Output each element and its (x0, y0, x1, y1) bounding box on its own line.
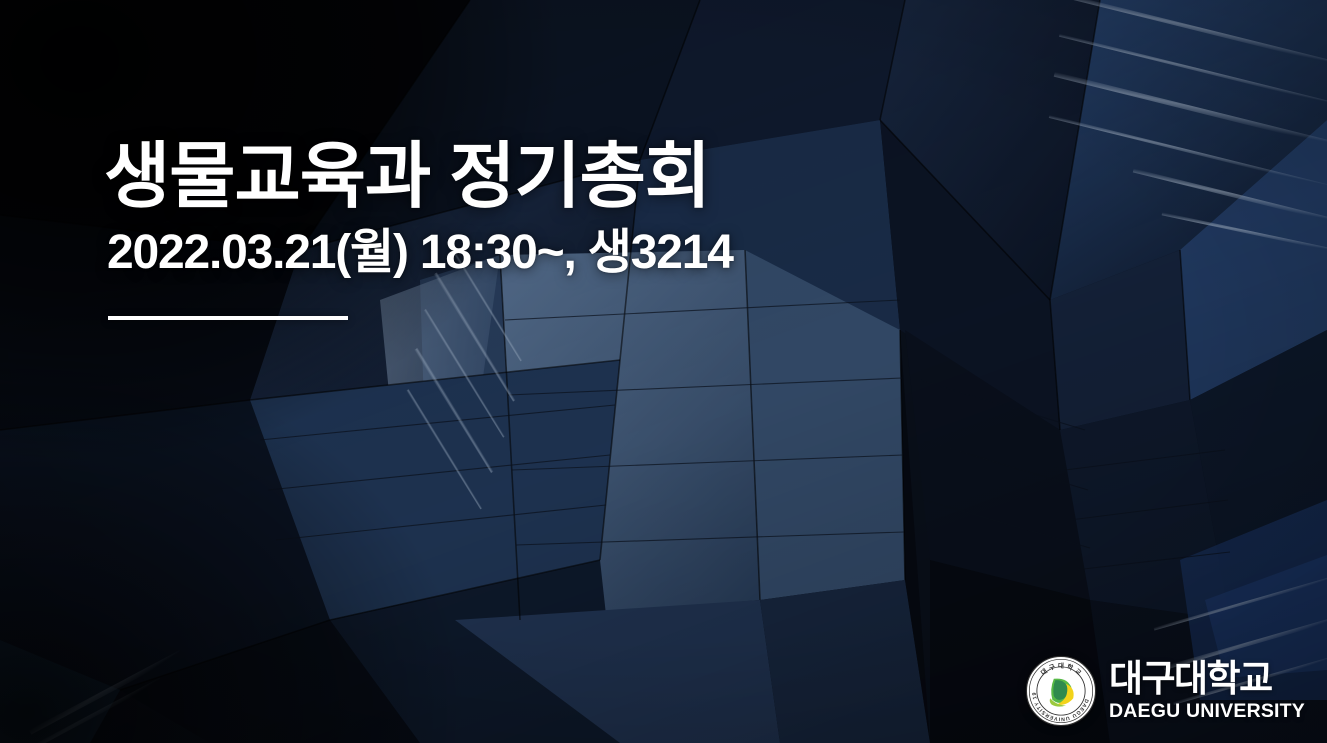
event-announcement-slide: 생물교육과 정기총회 2022.03.21(월) 18:30~, 생3214 대… (0, 0, 1327, 743)
page-title: 생물교육과 정기총회 (104, 140, 733, 215)
facade-geometry (0, 0, 1327, 743)
university-logo: 대구대학교 DAEGU UNIVERSITY 1956 대구대학교 DAEGU … (1025, 655, 1305, 727)
background-image (0, 0, 1327, 743)
logo-wordmark: 대구대학교 DAEGU UNIVERSITY (1109, 660, 1305, 722)
logo-korean-name: 대구대학교 (1109, 660, 1272, 697)
event-datetime-location: 2022.03.21(월) 18:30~, 생3214 (107, 227, 733, 280)
logo-english-name: DAEGU UNIVERSITY (1109, 702, 1305, 722)
title-divider-rule (108, 316, 348, 320)
heading-block: 생물교육과 정기총회 2022.03.21(월) 18:30~, 생3214 (104, 140, 733, 320)
university-seal-icon: 대구대학교 DAEGU UNIVERSITY 1956 (1025, 655, 1097, 727)
